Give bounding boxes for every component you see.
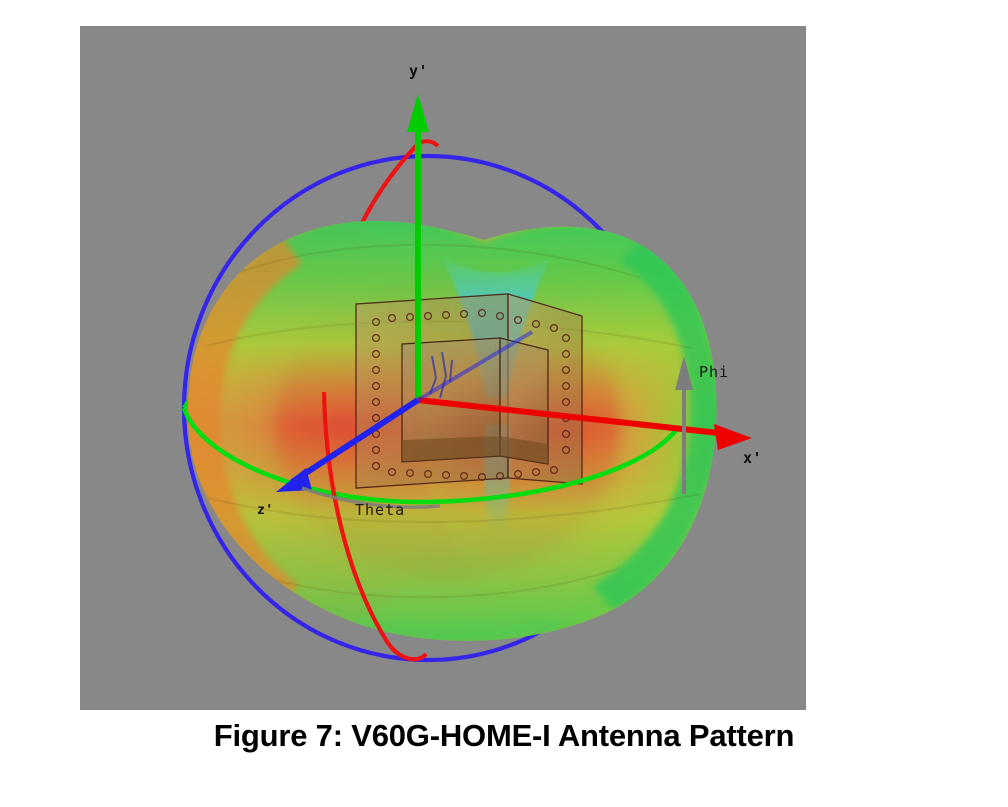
- x-axis-label: x': [743, 449, 762, 467]
- theta-label: Theta: [355, 501, 405, 519]
- phi-label: Phi: [699, 363, 729, 381]
- pattern-3d-scene: [80, 26, 806, 710]
- pattern-svg: [80, 26, 806, 710]
- z-axis-label: z': [257, 503, 274, 518]
- pcb-model: [356, 294, 582, 488]
- figure-caption: Figure 7: V60G-HOME-I Antenna Pattern: [0, 718, 1008, 754]
- y-axis-label: y': [409, 62, 428, 80]
- figure-page: y' x' z' Phi Theta Figure 7: V60G-HOME-I…: [0, 0, 1008, 807]
- antenna-pattern-viewport: y' x' z' Phi Theta: [80, 26, 806, 710]
- y-axis-arrowhead: [407, 94, 429, 132]
- x-axis-arrowhead: [714, 424, 752, 450]
